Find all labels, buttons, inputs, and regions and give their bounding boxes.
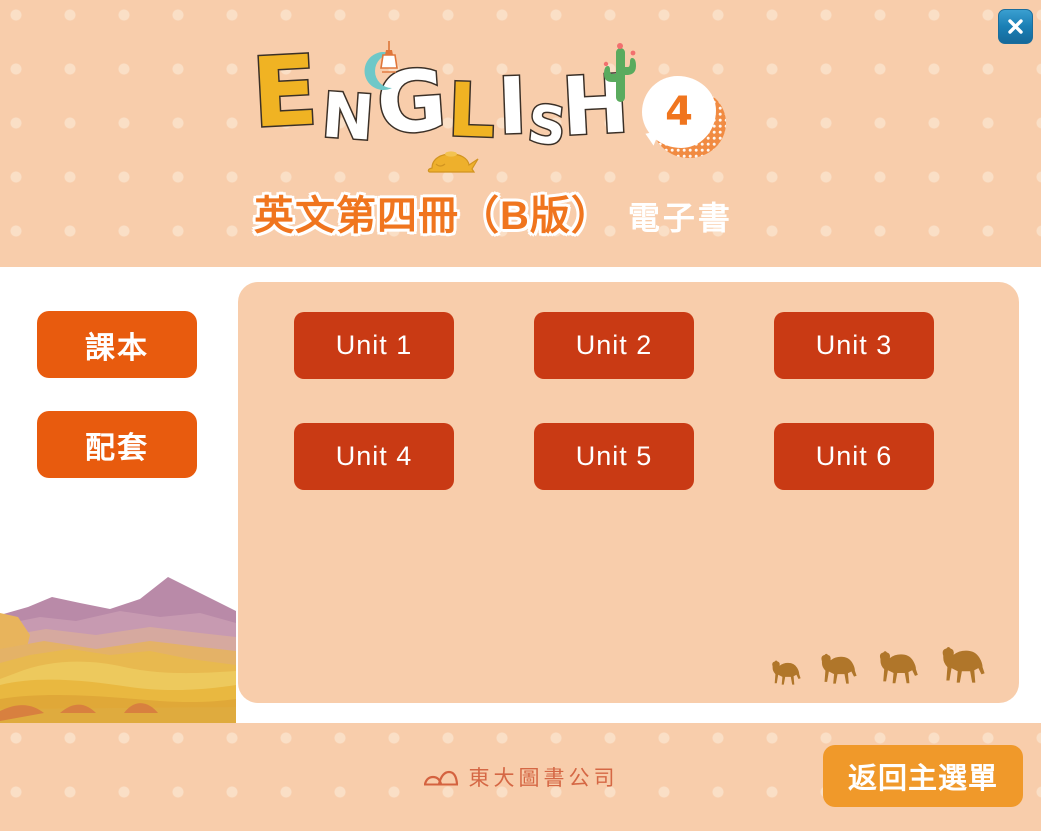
sidebar-item-supplement[interactable]: 配套 [37,411,197,478]
logo-letter-l: L [447,73,497,149]
subtitle-secondary: 電子書 [628,193,733,239]
back-to-main-menu-button[interactable]: 返回主選單 [823,745,1023,807]
title-logo: E N G L I S H [250,28,750,258]
unit-panel: Unit 1 Unit 2 Unit 3 Unit 4 Unit 5 Unit … [238,282,1019,703]
camel-icon-1 [767,655,809,689]
publisher-name: 東大圖書公司 [469,762,619,792]
header-banner: E N G L I S H [0,0,1041,267]
camel-icon-4 [935,639,997,689]
unit-button-6[interactable]: Unit 6 [774,423,934,490]
unit-button-5[interactable]: Unit 5 [534,423,694,490]
publisher-brand: 東大圖書公司 [423,762,619,792]
logo-letter-e: E [250,42,321,141]
logo-letter-n: N [320,84,376,149]
footer-bar: 東大圖書公司 返回主選單 [0,723,1041,831]
desert-svg [0,563,236,723]
unit-grid: Unit 1 Unit 2 Unit 3 Unit 4 Unit 5 Unit … [294,312,974,490]
bridge-mark-svg [423,768,459,786]
badge-number: 4 [642,76,716,148]
camel-icon-2 [815,647,867,689]
close-icon [1006,17,1025,36]
hanging-lantern-icon [378,41,400,77]
genie-lamp-icon [422,142,480,178]
cactus-icon [602,40,638,102]
sidebar-item-textbook[interactable]: 課本 [37,311,197,378]
english-wordmark: E N G L I S H [250,38,650,168]
unit-button-3[interactable]: Unit 3 [774,312,934,379]
main-content: 課本 配套 Unit 1 Unit 2 Unit 3 Unit 4 Unit 5… [0,267,1041,723]
sidebar-buttons: 課本 配套 [37,311,197,478]
ebook-menu-screen: E N G L I S H [0,0,1041,831]
subtitle-row: 英文第四冊（B版） 電子書 [254,183,754,241]
camel-caravan-illustration [767,639,997,689]
unit-button-2[interactable]: Unit 2 [534,312,694,379]
close-button[interactable] [998,9,1033,44]
unit-button-4[interactable]: Unit 4 [294,423,454,490]
desert-landscape-illustration [0,563,236,723]
camel-icon-3 [873,644,929,689]
logo-letter-i: I [497,68,529,147]
unit-button-1[interactable]: Unit 1 [294,312,454,379]
volume-badge: 4 [642,76,726,160]
bridge-logo-icon [423,768,459,786]
subtitle-main: 英文第四冊（B版） [254,183,612,241]
